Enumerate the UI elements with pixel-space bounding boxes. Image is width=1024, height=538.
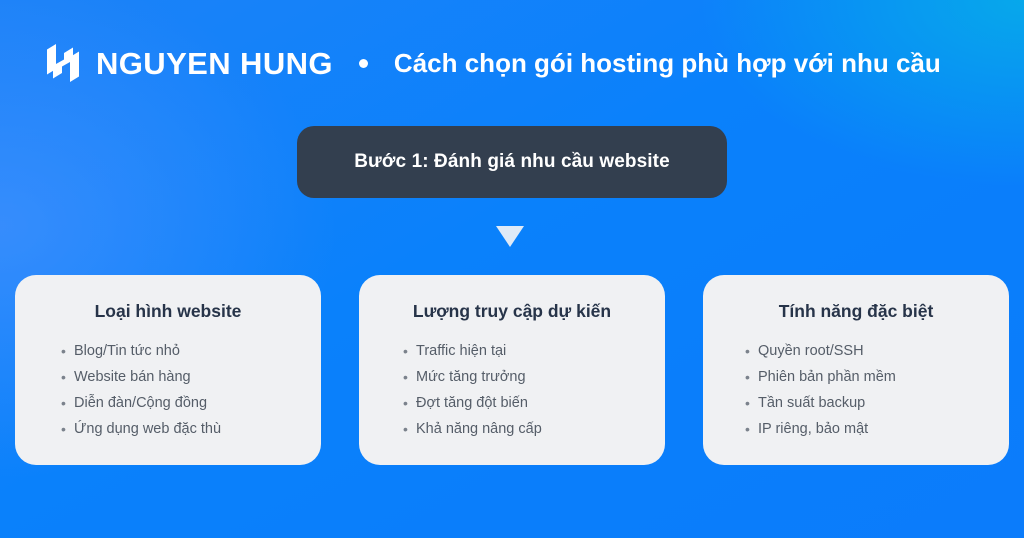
card-title: Tính năng đặc biệt [779, 301, 934, 322]
header: NGUYEN HUNG Cách chọn gói hosting phù hợ… [44, 38, 941, 88]
step-banner: Bước 1: Đánh giá nhu cầu website [297, 126, 727, 198]
list-item: Tần suất backup [745, 391, 1009, 417]
criteria-card: Lượng truy cập dự kiến Traffic hiện tại … [359, 275, 665, 465]
card-bullet-list: Traffic hiện tại Mức tăng trưởng Đợt tăn… [359, 339, 665, 443]
page-title: Cách chọn gói hosting phù hợp với nhu cầ… [394, 49, 941, 78]
brand-name: NGUYEN HUNG [96, 48, 333, 79]
list-item: Mức tăng trưởng [403, 365, 665, 391]
list-item: Quyền root/SSH [745, 339, 1009, 365]
card-title: Lượng truy cập dự kiến [413, 301, 611, 322]
triangle-down-icon [496, 226, 524, 247]
list-item: Đợt tăng đột biến [403, 391, 665, 417]
criteria-card: Loại hình website Blog/Tin tức nhỏ Websi… [15, 275, 321, 465]
step-label: Bước 1: Đánh giá nhu cầu website [354, 151, 670, 173]
nh-monogram-logo-icon [44, 38, 82, 88]
list-item: Diễn đàn/Cộng đồng [61, 391, 321, 417]
card-bullet-list: Blog/Tin tức nhỏ Website bán hàng Diễn đ… [15, 339, 321, 443]
card-title: Loại hình website [95, 301, 242, 322]
criteria-card-group: Loại hình website Blog/Tin tức nhỏ Websi… [15, 275, 1009, 465]
card-bullet-list: Quyền root/SSH Phiên bản phần mềm Tần su… [703, 339, 1009, 443]
list-item: Traffic hiện tại [403, 339, 665, 365]
list-item: Khả năng nâng cấp [403, 417, 665, 443]
list-item: Website bán hàng [61, 365, 321, 391]
list-item: IP riêng, bảo mật [745, 417, 1009, 443]
list-item: Phiên bản phần mềm [745, 365, 1009, 391]
list-item: Blog/Tin tức nhỏ [61, 339, 321, 365]
infographic-canvas: NGUYEN HUNG Cách chọn gói hosting phù hợ… [0, 0, 1024, 538]
list-item: Ứng dụng web đặc thù [61, 417, 321, 443]
bullet-dot-icon [359, 59, 368, 68]
criteria-card: Tính năng đặc biệt Quyền root/SSH Phiên … [703, 275, 1009, 465]
